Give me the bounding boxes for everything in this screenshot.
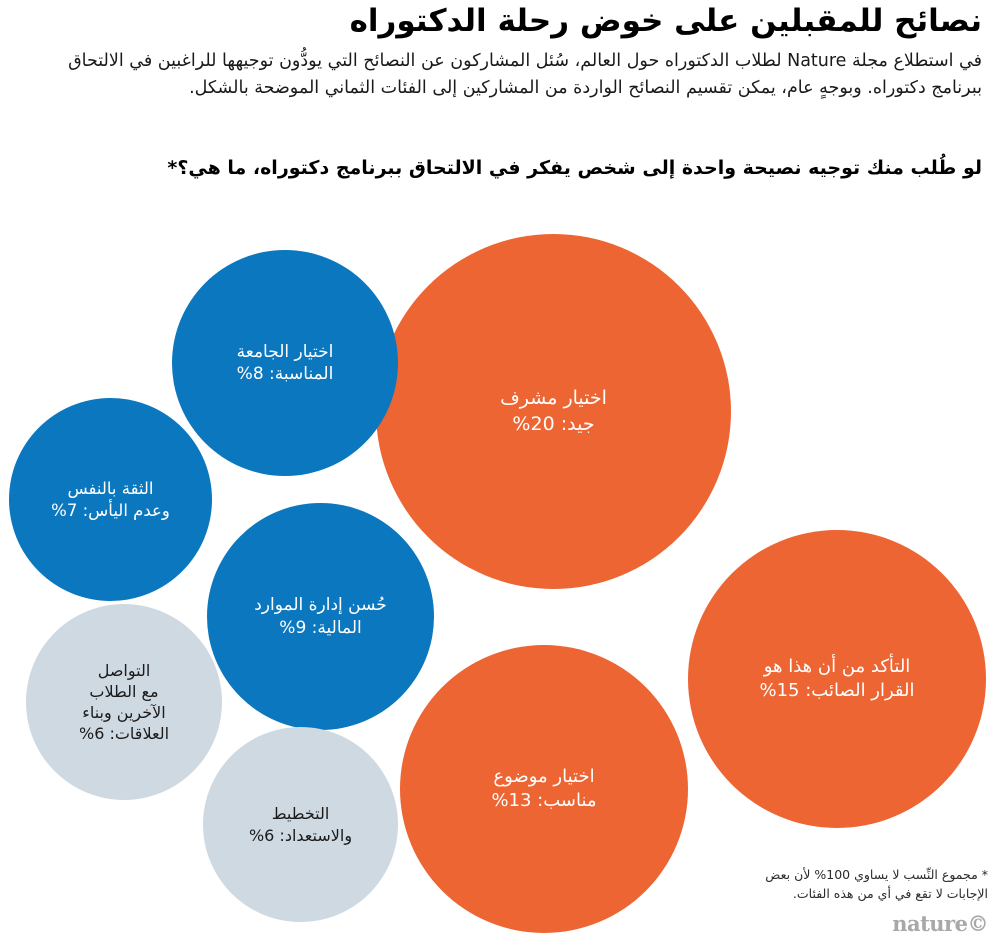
bubble-self-confidence[interactable]: الثقة بالنفس وعدم اليأس: 7% <box>9 398 212 601</box>
bubble-finance-management[interactable]: حُسن إدارة الموارد المالية: 9% <box>207 503 434 730</box>
footnote-text: * مجموع النِّسب لا يساوي 100% لأن بعض ال… <box>740 866 988 904</box>
bubble-label: الثقة بالنفس وعدم اليأس: 7% <box>45 478 176 522</box>
bubble-label: اختيار موضوع مناسب: 13% <box>485 765 602 813</box>
nature-logo: ©nature <box>740 911 988 936</box>
bubble-label: التواصل مع الطلاب الآخرين وبناء العلاقات… <box>73 660 175 744</box>
bubble-label: التخطيط والاستعداد: 6% <box>243 803 358 845</box>
bubble-right-university[interactable]: اختيار الجامعة المناسبة: 8% <box>172 250 398 476</box>
bubble-label: اختيار الجامعة المناسبة: 8% <box>231 341 340 386</box>
bubble-label: التأكد من أن هذا هو القرار الصائب: 15% <box>754 655 921 703</box>
bubble-chart: اختيار مشرف جيد: 20% التأكد من أن هذا هو… <box>0 0 1000 945</box>
bubble-right-decision[interactable]: التأكد من أن هذا هو القرار الصائب: 15% <box>688 530 986 828</box>
infographic-page: نصائح للمقبلين على خوض رحلة الدكتوراه في… <box>0 0 1000 945</box>
bubble-suitable-topic[interactable]: اختيار موضوع مناسب: 13% <box>400 645 688 933</box>
bubble-supervisor[interactable]: اختيار مشرف جيد: 20% <box>376 234 731 589</box>
bubble-label: حُسن إدارة الموارد المالية: 9% <box>248 594 393 639</box>
bubble-networking[interactable]: التواصل مع الطلاب الآخرين وبناء العلاقات… <box>26 604 222 800</box>
bubble-planning[interactable]: التخطيط والاستعداد: 6% <box>203 727 398 922</box>
bubble-label: اختيار مشرف جيد: 20% <box>494 386 613 436</box>
